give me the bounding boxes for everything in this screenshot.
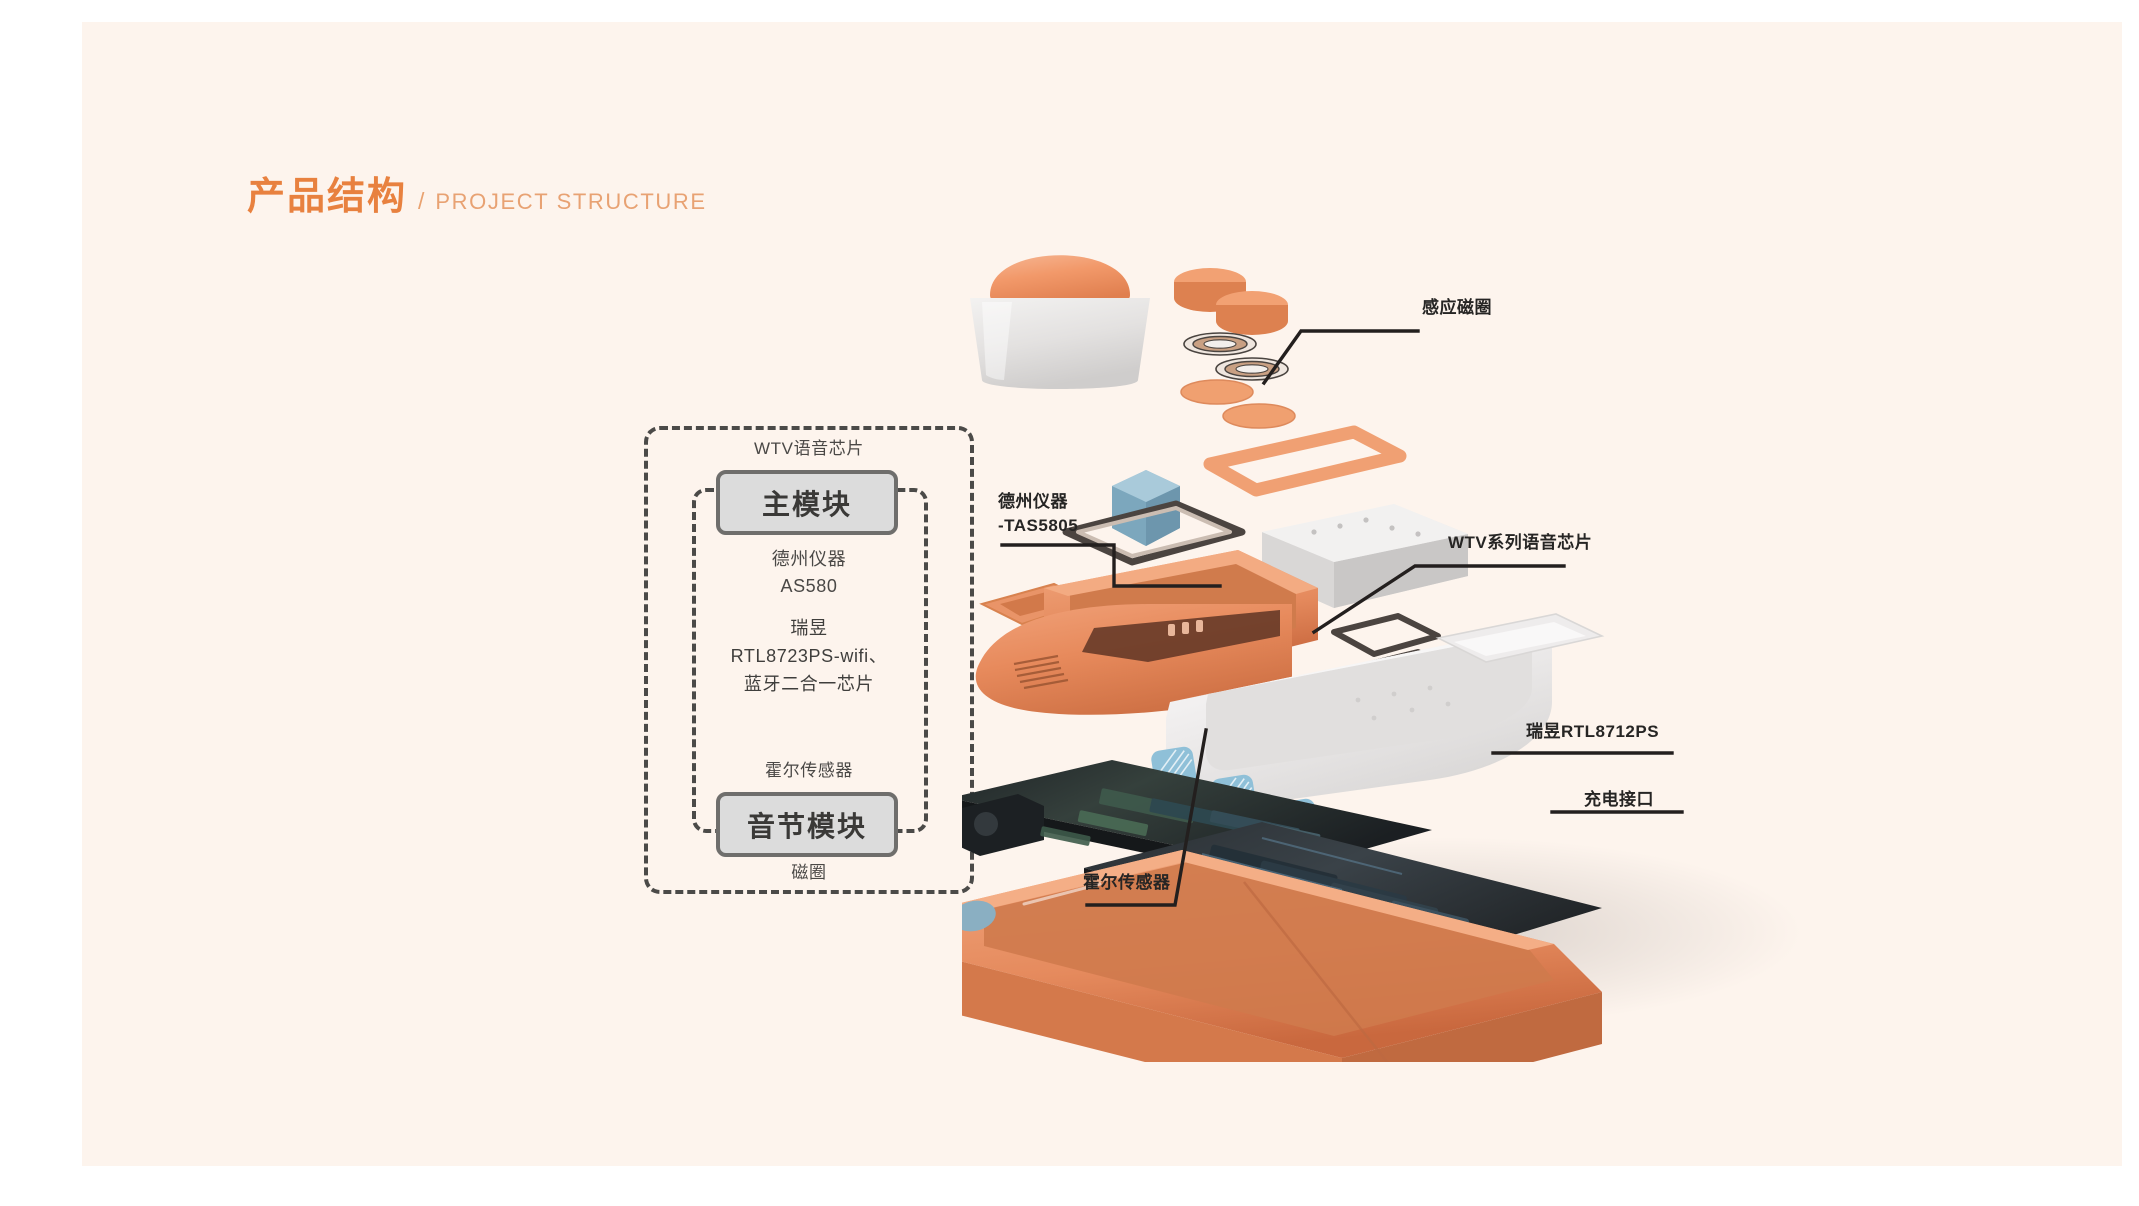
page-header: 产品结构 / PROJECT STRUCTURE: [247, 165, 707, 220]
magnet-ring-4: [1223, 404, 1295, 428]
top-dome-assembly: [970, 255, 1150, 389]
callout-label-ti-line2: -TAS5805: [998, 514, 1078, 538]
callout-label-induction-coil: 感应磁圈: [1422, 296, 1492, 320]
page-subtitle: PROJECT STRUCTURE: [435, 189, 706, 215]
exploded-product-illustration: [962, 232, 2022, 1062]
diagram-label-realtek-line2: RTL8723PS-wifi、: [644, 642, 974, 670]
product-exploded-svg: [962, 232, 2022, 1062]
induction-coil-1: [1184, 333, 1256, 355]
syllable-module-box: 音节模块: [716, 792, 898, 857]
diagram-label-ti-line1: 德州仪器: [644, 546, 974, 573]
diagram-label-realtek-line1: 瑞昱: [644, 614, 974, 642]
callout-label-realtek-rtl8712ps: 瑞昱RTL8712PS: [1526, 720, 1659, 744]
pcb-connector-port: [974, 812, 998, 836]
diagram-label-realtek: 瑞昱 RTL8723PS-wifi、 蓝牙二合一芯片: [644, 614, 974, 698]
diagram-label-wtv-chip: WTV语音芯片: [644, 436, 974, 461]
callout-label-hall-sensor: 霍尔传感器: [1083, 871, 1171, 895]
callout-label-ti-tas5805: 德州仪器 -TAS5805: [998, 490, 1078, 538]
callout-label-charging-port: 充电接口: [1584, 788, 1654, 812]
diagram-label-magnetic-coil: 磁圈: [644, 860, 974, 885]
diagram-label-realtek-line3: 蓝牙二合一芯片: [644, 670, 974, 698]
slide-content-area: 产品结构 / PROJECT STRUCTURE WTV语音芯片 主模块 德州仪…: [82, 22, 2122, 1166]
page-title: 产品结构: [247, 165, 407, 220]
title-separator: /: [418, 188, 424, 215]
page-root: 产品结构 / PROJECT STRUCTURE WTV语音芯片 主模块 德州仪…: [0, 0, 2139, 1184]
magnet-disc-2-side: [1216, 305, 1288, 335]
module-block-diagram: WTV语音芯片 主模块 德州仪器 AS580 瑞昱 RTL8723PS-wifi…: [644, 426, 974, 894]
magnet-coil-stack: [1174, 268, 1295, 428]
diagram-label-hall-sensor: 霍尔传感器: [644, 758, 974, 783]
callout-label-wtv-voice-chip: WTV系列语音芯片: [1448, 531, 1592, 555]
diagram-label-ti-line2: AS580: [644, 573, 974, 600]
induction-coil-2: [1216, 358, 1288, 380]
main-module-box: 主模块: [716, 470, 898, 535]
callout-label-ti-line1: 德州仪器: [998, 490, 1078, 514]
diagram-label-ti-chip: 德州仪器 AS580: [644, 546, 974, 600]
magnet-ring-3: [1181, 380, 1253, 404]
